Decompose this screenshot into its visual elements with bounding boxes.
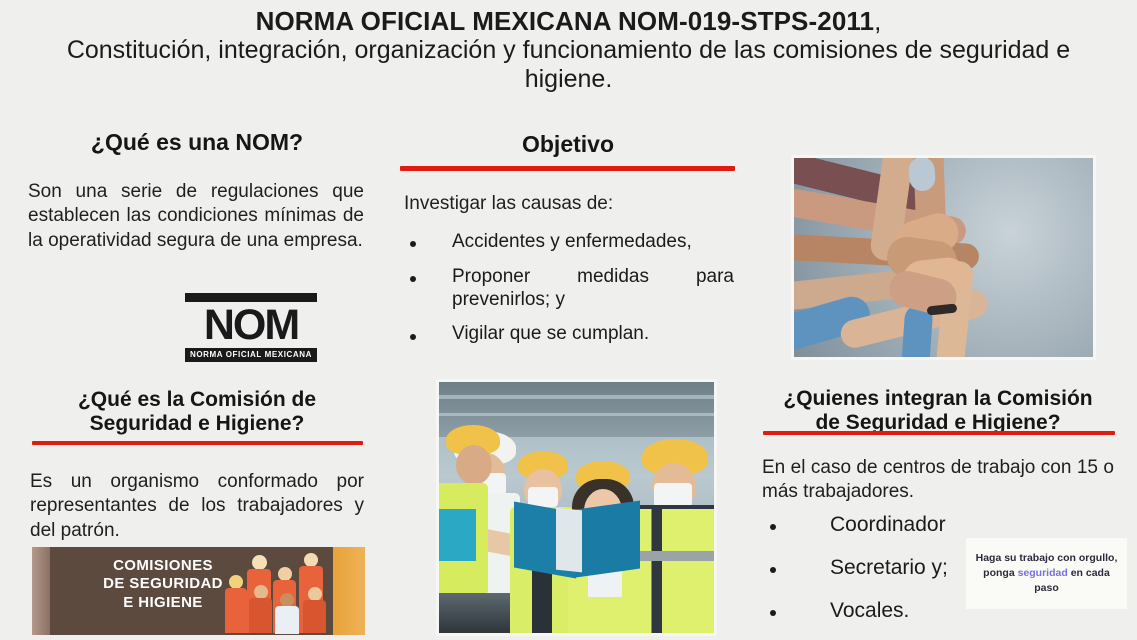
- list-item: Coordinador: [770, 512, 1070, 537]
- banner-worker-5: [275, 593, 299, 633]
- photo-teamwork-hands: [791, 155, 1096, 360]
- bullet-dot-icon: [770, 524, 776, 530]
- banner-worker-3: [249, 585, 272, 633]
- text-quienes-integran: En el caso de centros de trabajo con 15 …: [762, 456, 1114, 505]
- heading-quienes-line-1: ¿Quienes integran la Comisión: [760, 387, 1116, 411]
- bullet-dot-icon: [770, 567, 776, 573]
- divider-red-center: [400, 166, 735, 171]
- photo-factory-workers: [436, 379, 717, 636]
- banner-comisiones-seguridad-higiene: COMISIONES DE SEGURIDAD E HIGIENE: [32, 547, 365, 635]
- worker-head: [254, 585, 268, 599]
- text-que-es-la-comision: Es un organismo conformado por represent…: [30, 470, 364, 543]
- heading-que-es-la-comision: ¿Qué es la Comisión de Seguridad e Higie…: [28, 388, 366, 435]
- worker-head: [278, 567, 292, 581]
- list-item-label: Vigilar que se cumplan.: [410, 323, 734, 346]
- worker-head: [229, 575, 243, 589]
- worker-body: [225, 588, 247, 633]
- nom-logo-word: NOM: [185, 303, 317, 347]
- photo-frame: [436, 379, 717, 636]
- page-title: NORMA OFICIAL MEXICANA NOM-019-STPS-2011…: [60, 6, 1077, 94]
- worker-head: [280, 593, 294, 607]
- list-item: Proponer medidas para prevenirlos; y: [410, 266, 734, 312]
- safety-slogan-text: Haga su trabajo con orgullo, ponga segur…: [966, 551, 1127, 597]
- banner-left-edge: [32, 547, 50, 635]
- list-item-label: Proponer medidas para prevenirlos; y: [410, 266, 734, 312]
- banner-workers-illustration: [223, 551, 331, 635]
- nom-logo-caption: NORMA OFICIAL MEXICANA: [185, 348, 317, 362]
- heading-que-es-una-nom: ¿Qué es una NOM?: [28, 130, 366, 156]
- banner-worker-7: [303, 587, 326, 633]
- worker-head: [252, 555, 267, 570]
- bullet-dot-icon: [770, 610, 776, 616]
- title-norm-code: NORMA OFICIAL MEXICANA NOM-019-STPS-2011: [256, 6, 874, 36]
- safety-slogan-card: Haga su trabajo con orgullo, ponga segur…: [966, 538, 1127, 609]
- heading-comision-line-1: ¿Qué es la Comisión de: [28, 388, 366, 412]
- bullet-dot-icon: [410, 334, 416, 340]
- worker-body: [249, 598, 272, 633]
- text-investigar-causas: Investigar las causas de:: [404, 192, 734, 216]
- nom-logo: NOM NORMA OFICIAL MEXICANA: [185, 293, 317, 362]
- photo-frame: [791, 155, 1096, 360]
- title-line-1: NORMA OFICIAL MEXICANA NOM-019-STPS-2011…: [60, 6, 1077, 36]
- slide-root: NORMA OFICIAL MEXICANA NOM-019-STPS-2011…: [0, 0, 1137, 640]
- heading-comision-line-2: Seguridad e Higiene?: [28, 412, 366, 436]
- banner-worker-1: [225, 575, 247, 633]
- list-item-label: Coordinador: [770, 512, 1070, 537]
- text-que-es-una-nom: Son una serie de regulaciones que establ…: [28, 180, 364, 253]
- worker-head: [304, 553, 318, 567]
- worker-body: [275, 606, 299, 634]
- worker-body: [303, 600, 326, 633]
- safety-slogan-highlight: seguridad: [1018, 567, 1068, 579]
- title-line-2: Constitución, integración, organización …: [60, 36, 1077, 94]
- divider-red-right: [763, 431, 1115, 435]
- list-item: Vigilar que se cumplan.: [410, 323, 734, 346]
- list-item: Accidentes y enfermedades,: [410, 231, 734, 254]
- heading-quienes-integran: ¿Quienes integran la Comisión de Segurid…: [760, 387, 1116, 434]
- heading-objetivo: Objetivo: [400, 132, 736, 158]
- banner-right-edge: [333, 547, 365, 635]
- worker-head: [308, 587, 322, 601]
- divider-red-left: [32, 441, 363, 445]
- list-objetivo-bullets: Accidentes y enfermedades, Proponer medi…: [410, 231, 734, 358]
- title-comma: ,: [874, 6, 881, 36]
- list-item-label: Accidentes y enfermedades,: [410, 231, 734, 254]
